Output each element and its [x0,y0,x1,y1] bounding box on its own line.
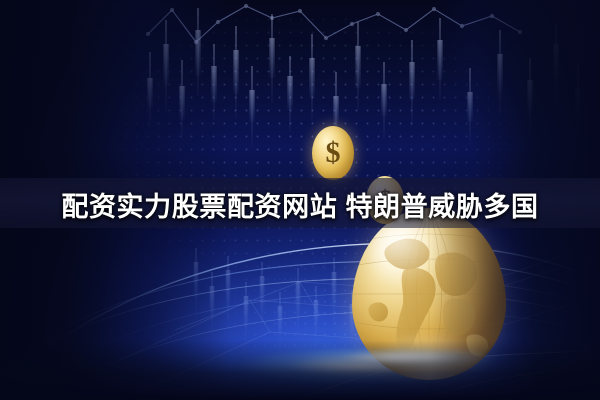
dollar-sign-icon: $ [326,138,341,168]
gold-coin-dollar: $ [312,126,354,180]
finance-banner: $ $ 配资实力股票配资网站 特朗普威胁多国 [0,0,600,400]
banner-title: 配资实力股票配资网站 特朗普威胁多国 [0,183,600,225]
background-bottom-shade [0,340,600,400]
